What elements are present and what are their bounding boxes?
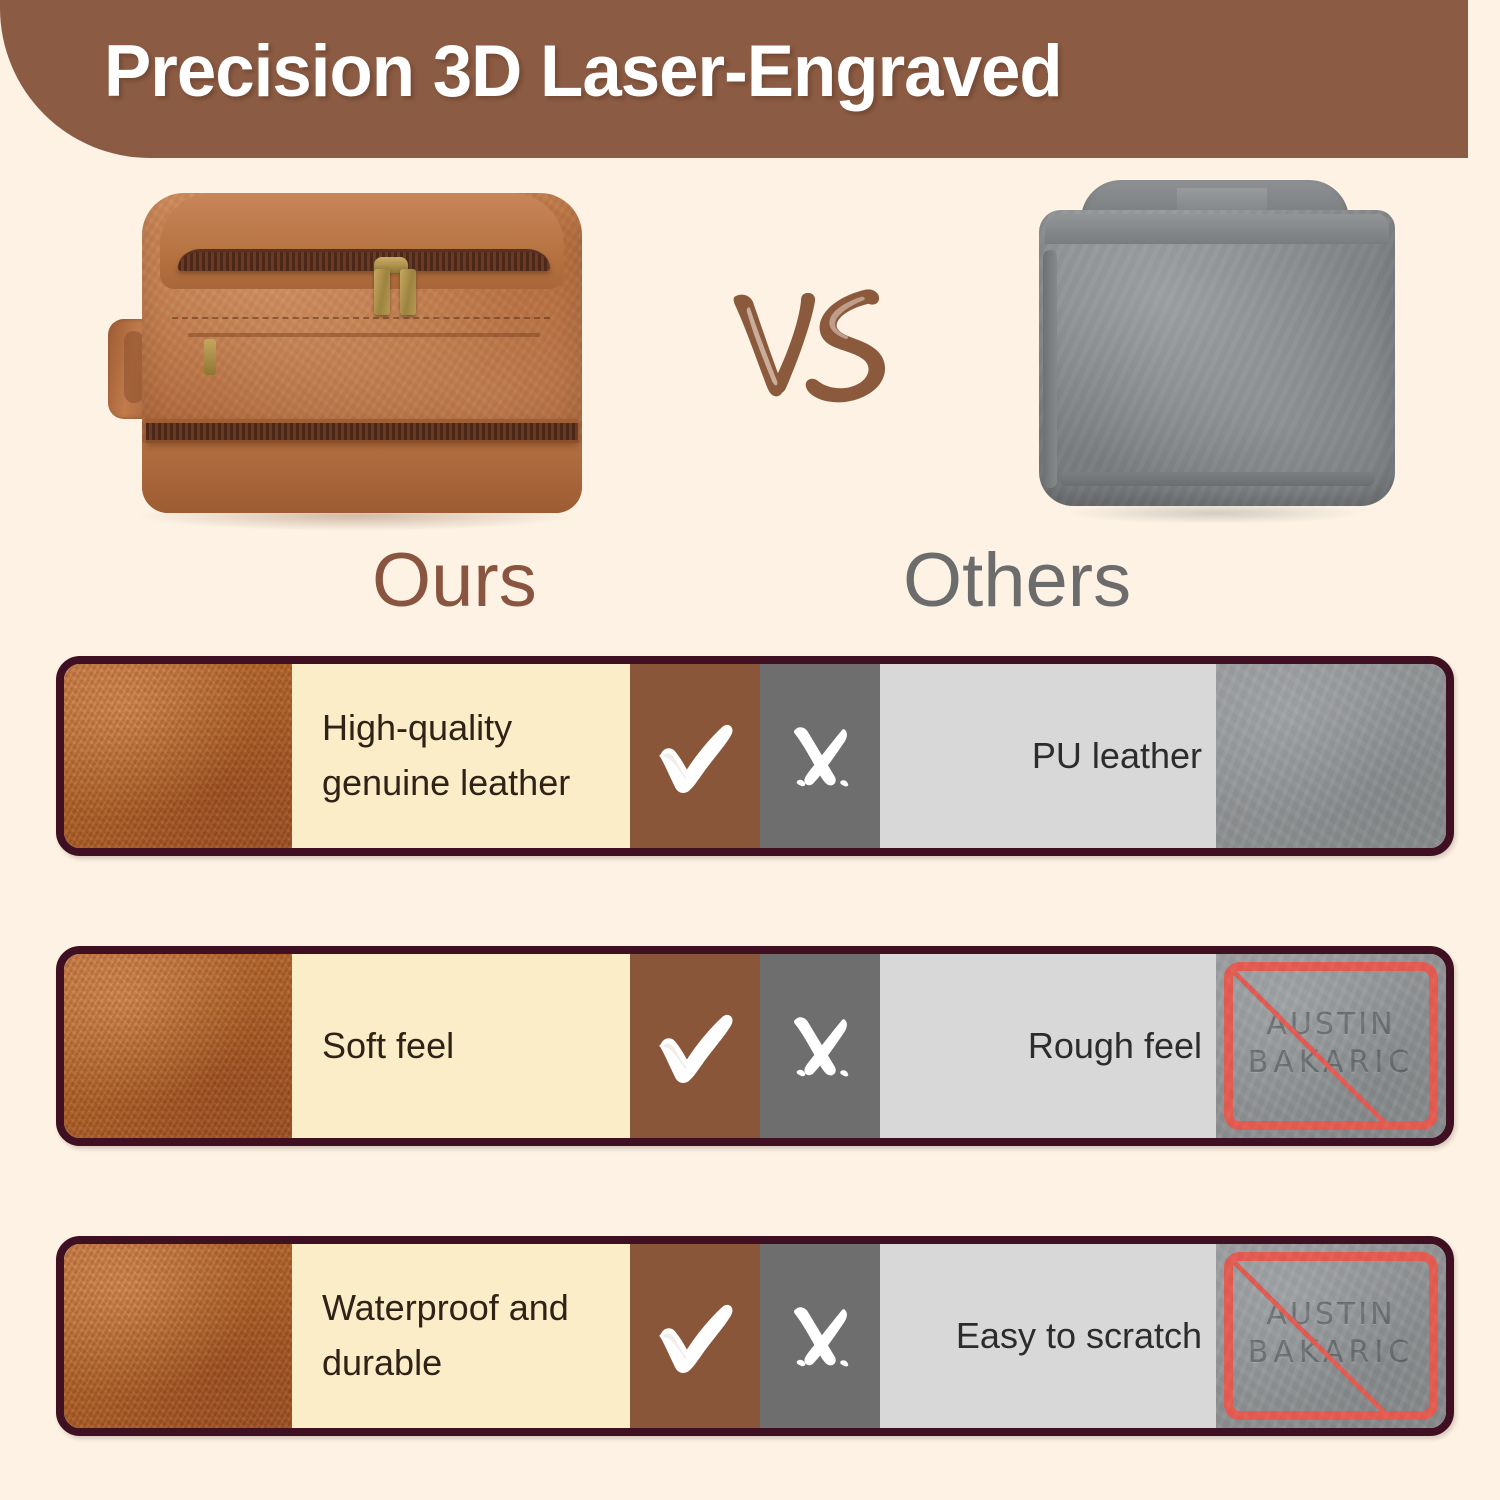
versus-icon [728,288,888,408]
others-material-swatch [1216,664,1446,848]
product-showcase: Ours Others [0,158,1500,638]
rejected-frame: AUSTIN BAKARIC [1224,1252,1438,1420]
ours-feature-cell: High-quality genuine leather [292,664,630,848]
strikethrough-line [1233,971,1429,1130]
ours-leather-swatch [64,1244,292,1428]
ours-product-image [80,183,620,543]
column-label-ours: Ours [372,543,537,619]
rejected-frame: AUSTIN BAKARIC [1224,962,1438,1130]
cross-icon [783,719,857,793]
engraved-name-line2: BAKARIC [1233,1044,1429,1082]
zipper-pull-right [400,269,416,315]
others-feature-cell: PU leather [880,664,1216,848]
strikethrough-line [1233,1261,1429,1420]
bag-flap [1045,214,1389,244]
brass-tab [204,339,216,375]
zipper-pull-left [374,269,390,315]
header-banner: Precision 3D Laser-Engraved [0,0,1468,158]
table-row: Soft feel Rough feel AUSTIN BAKARIC [56,946,1454,1146]
others-feature-cell: Rough feel [880,954,1216,1138]
ours-leather-swatch [64,954,292,1138]
table-row: High-quality genuine leather PU leather [56,656,1454,856]
ours-leather-swatch [64,664,292,848]
front-pocket-line [188,333,540,337]
engraved-name: AUSTIN BAKARIC [1233,1296,1429,1373]
table-row: Waterproof and durable Easy to scratch A… [56,1236,1454,1436]
engraved-name-line1: AUSTIN [1233,1006,1429,1044]
top-zipper [178,249,550,271]
cross-cell [760,1244,880,1428]
others-feature-cell: Easy to scratch [880,1244,1216,1428]
checkmark-icon [650,711,740,801]
ours-feature-cell: Waterproof and durable [292,1244,630,1428]
engraved-name-line2: BAKARIC [1233,1334,1429,1372]
others-feature-text: PU leather [1032,729,1216,784]
cross-icon [783,1009,857,1083]
others-feature-text: Easy to scratch [956,1309,1216,1364]
check-cell [630,1244,760,1428]
page-title: Precision 3D Laser-Engraved [104,30,1062,113]
bottom-zipper [146,419,578,443]
cross-cell [760,954,880,1138]
others-product-image [1015,180,1415,530]
checkmark-icon [650,1001,740,1091]
engraved-name-line1: AUSTIN [1233,1296,1429,1334]
others-engraving-swatch: AUSTIN BAKARIC [1216,954,1446,1138]
bag-body [142,193,582,513]
checkmark-icon [650,1291,740,1381]
stitch-seam [172,317,550,319]
others-feature-text: Rough feel [1028,1019,1216,1074]
bag-body [1039,210,1395,506]
cross-icon [783,1299,857,1373]
bag-left-edge [1043,250,1057,488]
check-cell [630,664,760,848]
ours-feature-text: Soft feel [292,1019,454,1074]
bag-lid [160,193,564,289]
ours-feature-text: High-quality genuine leather [292,701,592,810]
bag-base [142,443,582,513]
cross-cell [760,664,880,848]
engraved-name: AUSTIN BAKARIC [1233,1006,1429,1083]
column-label-others: Others [903,543,1131,619]
ours-feature-cell: Soft feel [292,954,630,1138]
drop-shadow [1065,502,1365,524]
ours-feature-text: Waterproof and durable [292,1281,592,1390]
bag-bottom-edge [1059,472,1375,486]
others-engraving-swatch: AUSTIN BAKARIC [1216,1244,1446,1428]
check-cell [630,954,760,1138]
